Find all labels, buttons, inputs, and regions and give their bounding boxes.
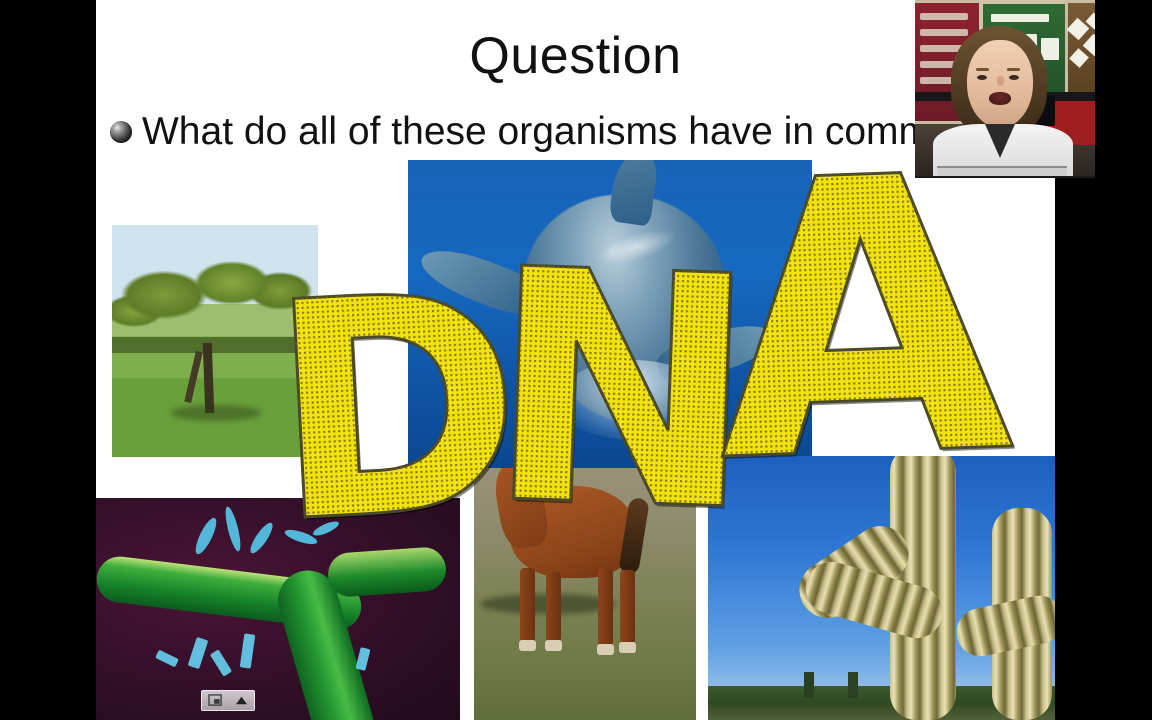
shark-left-pectoral-fin — [415, 238, 549, 325]
horse-hoof — [519, 640, 536, 651]
bullet-text: What do all of these organisms have in c… — [142, 112, 931, 151]
presenter-nose — [997, 76, 1004, 86]
presenter-webcam[interactable] — [915, 0, 1095, 178]
horse-leg — [598, 568, 613, 646]
bacteria-debris — [355, 647, 370, 671]
expand-triangle-icon[interactable] — [234, 694, 249, 707]
horse-photo — [474, 468, 696, 720]
bacteria-flagella — [192, 515, 220, 556]
sphere-bullet-icon — [110, 121, 132, 143]
bacteria-flagella — [247, 520, 276, 556]
tree-photo — [112, 225, 318, 457]
shark-belly — [558, 360, 708, 440]
horse-hoof — [597, 644, 614, 655]
cactus-background-tree — [804, 672, 814, 698]
bacteria-rod-3 — [327, 546, 448, 598]
horse-leg — [620, 570, 635, 644]
bacteria-debris — [240, 633, 256, 668]
horse-leg — [520, 568, 535, 642]
bullet-row: What do all of these organisms have in c… — [110, 112, 931, 151]
horse-hoof — [545, 640, 562, 651]
page-title: Question — [96, 30, 1055, 82]
cactus-photo — [708, 456, 1055, 720]
tree-trunk — [203, 343, 214, 413]
horse-neck — [491, 468, 551, 551]
letterbox-bar-left — [0, 0, 96, 720]
shark-photo — [408, 160, 812, 468]
bacteria-photo — [96, 498, 460, 720]
tree-shrub-row — [112, 337, 318, 353]
presentation-slide: D N A Question What do all of these orga… — [96, 0, 1055, 720]
bulletin-board-cork — [1065, 0, 1095, 98]
bacteria-debris — [210, 649, 232, 676]
bacteria-debris — [155, 650, 179, 668]
bacteria-flagella — [311, 519, 340, 539]
bacteria-flagella — [223, 505, 244, 552]
presenter-mouth — [989, 92, 1011, 105]
bacteria-debris — [188, 637, 209, 669]
cactus-background-tree — [848, 672, 858, 698]
horse-leg — [546, 572, 561, 642]
picture-in-picture-icon[interactable] — [208, 694, 223, 707]
screencast-frame: D N A Question What do all of these orga… — [0, 0, 1152, 720]
tree-branch — [184, 351, 203, 403]
video-overlay-widget[interactable] — [201, 690, 255, 711]
tree-shadow — [170, 405, 262, 421]
horse-hoof — [619, 642, 636, 653]
laptop-edge — [937, 166, 1067, 178]
